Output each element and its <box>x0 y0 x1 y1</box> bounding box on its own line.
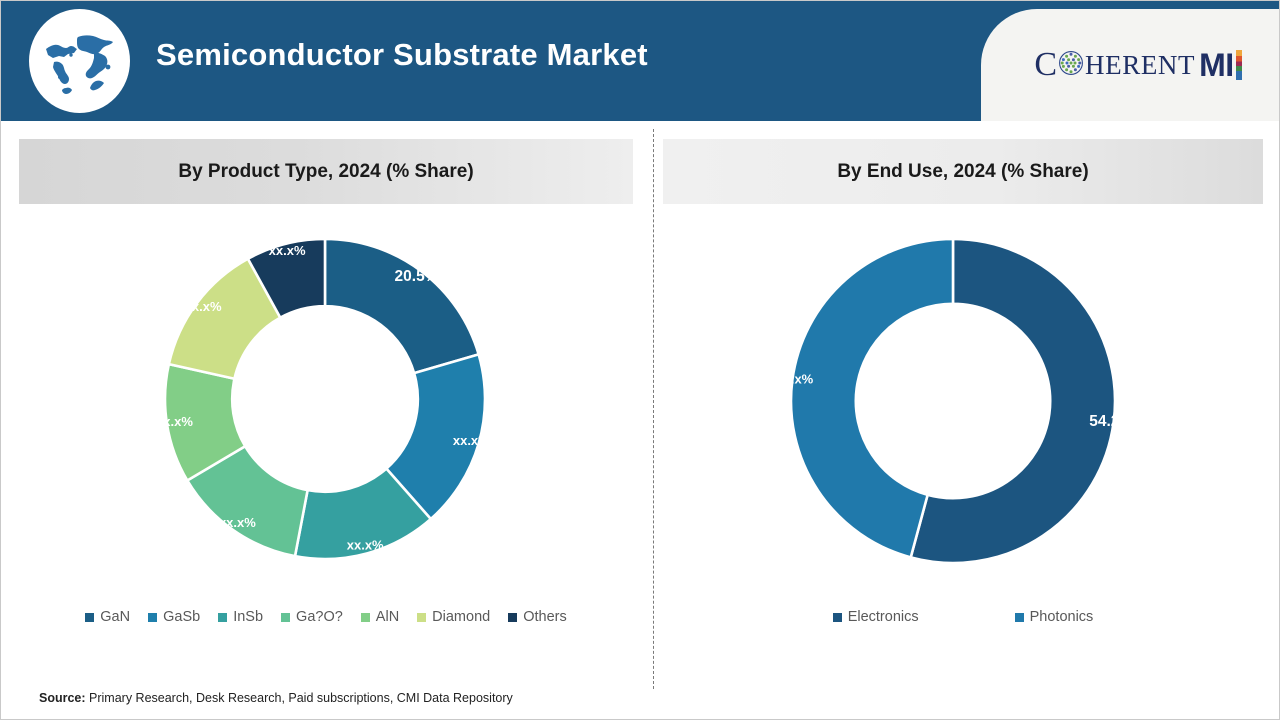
donut-slices-product-type <box>165 239 485 559</box>
panel-title-end-use: By End Use, 2024 (% Share) <box>837 161 1088 183</box>
legend-swatch <box>218 613 227 622</box>
legend-item[interactable]: GaN <box>85 609 130 625</box>
legend-swatch <box>417 613 426 622</box>
legend-item[interactable]: AlN <box>361 609 399 625</box>
panel-header-product-type: By Product Type, 2024 (% Share) <box>19 139 633 204</box>
legend-item[interactable]: Electronics <box>833 609 919 625</box>
legend-item[interactable]: Photonics <box>1015 609 1094 625</box>
legend-label: AlN <box>376 609 399 625</box>
legend-label: Diamond <box>432 609 490 625</box>
slice-value-label: xx.x% <box>185 299 222 314</box>
charts-area: By Product Type, 2024 (% Share) 20.5%xx.… <box>1 121 1280 720</box>
legend-label: Ga?O? <box>296 609 343 625</box>
donut-slice[interactable] <box>325 239 479 373</box>
legend-swatch <box>281 613 290 622</box>
panel-header-end-use: By End Use, 2024 (% Share) <box>663 139 1263 204</box>
page-title: Semiconductor Substrate Market <box>156 37 648 73</box>
legend-label: Others <box>523 609 567 625</box>
brand-logo[interactable]: C <box>981 9 1280 121</box>
donut-slices-end-use <box>791 239 1115 563</box>
logo-mi: MI <box>1199 47 1234 84</box>
logo-letter-c: C <box>1034 46 1057 84</box>
legend-swatch <box>361 613 370 622</box>
slice-value-label: xx.x% <box>156 414 193 429</box>
logo-wordmark: HERENT <box>1085 50 1195 81</box>
source-text: Primary Research, Desk Research, Paid su… <box>86 691 513 705</box>
slice-value-label: xx.x% <box>453 433 490 448</box>
legend-end-use: ElectronicsPhotonics <box>663 609 1263 625</box>
globe-o-icon <box>1058 50 1084 81</box>
slice-value-label: xx.x% <box>269 243 306 258</box>
legend-item[interactable]: Diamond <box>417 609 490 625</box>
logo-stripes-icon <box>1236 50 1242 80</box>
slice-value-label: xx.x% <box>219 515 256 530</box>
header-banner: Semiconductor Substrate Market C <box>1 1 1280 121</box>
slice-value-label: xx.x% <box>776 371 813 386</box>
source-note: Source: Primary Research, Desk Research,… <box>39 691 513 705</box>
donut-chart-product-type[interactable]: 20.5%xx.x%xx.x%xx.x%xx.x%xx.x%xx.x% <box>149 229 501 573</box>
legend-label: GaN <box>100 609 130 625</box>
legend-swatch <box>833 613 842 622</box>
globe-icon <box>29 9 130 113</box>
legend-item[interactable]: Ga?O? <box>281 609 343 625</box>
legend-item[interactable]: Others <box>508 609 567 625</box>
legend-swatch <box>85 613 94 622</box>
legend-item[interactable]: InSb <box>218 609 263 625</box>
panel-title-product-type: By Product Type, 2024 (% Share) <box>178 161 473 183</box>
panel-product-type: By Product Type, 2024 (% Share) 20.5%xx.… <box>1 121 653 720</box>
legend-swatch <box>508 613 517 622</box>
slice-value-label: 20.5% <box>395 268 439 285</box>
donut-chart-end-use[interactable]: 54.2%xx.x% <box>783 231 1123 571</box>
source-label: Source: <box>39 691 86 705</box>
legend-label: GaSb <box>163 609 200 625</box>
slice-value-label: xx.x% <box>347 537 384 552</box>
legend-label: InSb <box>233 609 263 625</box>
slice-value-label: 54.2% <box>1089 413 1133 430</box>
legend-product-type: GaNGaSbInSbGa?O?AlNDiamondOthers <box>19 609 633 625</box>
legend-swatch <box>1015 613 1024 622</box>
legend-label: Photonics <box>1030 609 1094 625</box>
slide-canvas: Semiconductor Substrate Market C <box>0 0 1280 720</box>
legend-swatch <box>148 613 157 622</box>
legend-label: Electronics <box>848 609 919 625</box>
panel-end-use: By End Use, 2024 (% Share) 54.2%xx.x% El… <box>653 121 1280 720</box>
legend-item[interactable]: GaSb <box>148 609 200 625</box>
